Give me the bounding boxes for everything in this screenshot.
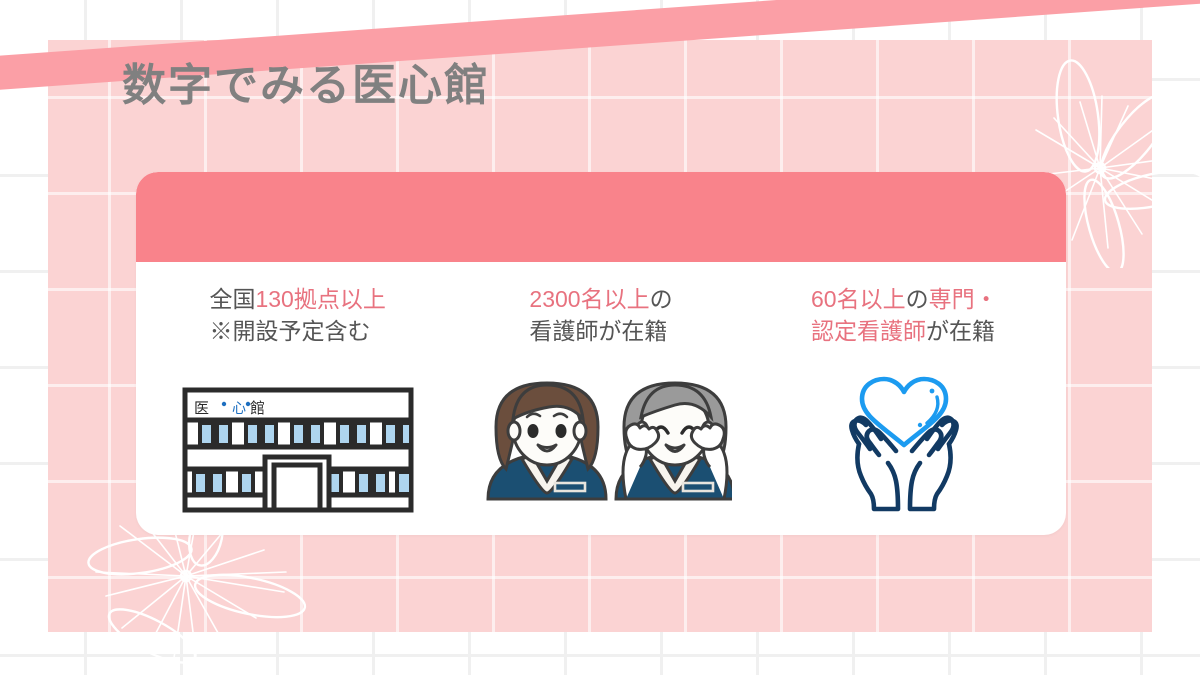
stat-segment-accent: 130拠点以上	[255, 286, 385, 312]
nurse-female-icon	[488, 383, 606, 499]
stat-text-certified-nurses: 60名以上の専門・ 認定看護師が在籍	[811, 284, 998, 347]
stat-text-nurses: 2300名以上の 看護師が在籍	[529, 284, 672, 347]
stat-column-nurses: 2300名以上の 看護師が在籍	[449, 284, 752, 535]
two-nurses-icon	[470, 375, 732, 513]
stat-segment: が在籍	[926, 318, 995, 344]
heart-in-hands-icon	[840, 373, 968, 513]
stat-segment: 全国	[209, 286, 255, 312]
svg-text:館: 館	[250, 399, 265, 417]
stat-segment: の	[906, 286, 929, 312]
stats-card: 全国130拠点以上 ※開設予定含む 医 心	[136, 172, 1066, 535]
stat-segment: 看護師が在籍	[529, 318, 667, 344]
card-header-bar	[136, 172, 1066, 262]
stats-row: 全国130拠点以上 ※開設予定含む 医 心	[136, 262, 1066, 535]
stat-line-1: 2300名以上の	[529, 284, 672, 316]
nurse-cheering-icon	[616, 383, 732, 499]
stat-icon-wrap-locations: 医 心 館	[182, 373, 414, 513]
stat-line-2: ※開設予定含む	[209, 316, 385, 348]
stat-icon-wrap-certified	[840, 373, 968, 513]
stat-line-1: 全国130拠点以上	[209, 284, 385, 316]
stat-segment-accent: 認定看護師	[811, 318, 926, 344]
stat-segment-accent: 専門・	[929, 286, 998, 312]
stat-segment: ※開設予定含む	[209, 318, 370, 344]
stat-line-2: 認定看護師が在籍	[811, 316, 998, 348]
stat-segment-accent: 2300名以上	[529, 286, 649, 312]
stat-segment-accent: 60名以上	[811, 286, 906, 312]
stat-line-1: 60名以上の専門・	[811, 284, 998, 316]
stat-segment: の	[650, 286, 673, 312]
building-icon: 医 心 館	[182, 387, 414, 513]
page-title: 数字でみる医心館	[122, 62, 490, 110]
slide-canvas: 数字でみる医心館 全国130拠点以上 ※開設予定含む	[0, 0, 1200, 675]
stat-icon-wrap-nurses	[470, 373, 732, 513]
stat-line-2: 看護師が在籍	[529, 316, 672, 348]
stat-column-locations: 全国130拠点以上 ※開設予定含む 医 心	[146, 284, 449, 535]
stat-text-locations: 全国130拠点以上 ※開設予定含む	[209, 284, 385, 347]
stat-column-certified-nurses: 60名以上の専門・ 認定看護師が在籍	[753, 284, 1056, 535]
svg-text:心: 心	[232, 401, 246, 417]
svg-text:医: 医	[194, 399, 209, 417]
